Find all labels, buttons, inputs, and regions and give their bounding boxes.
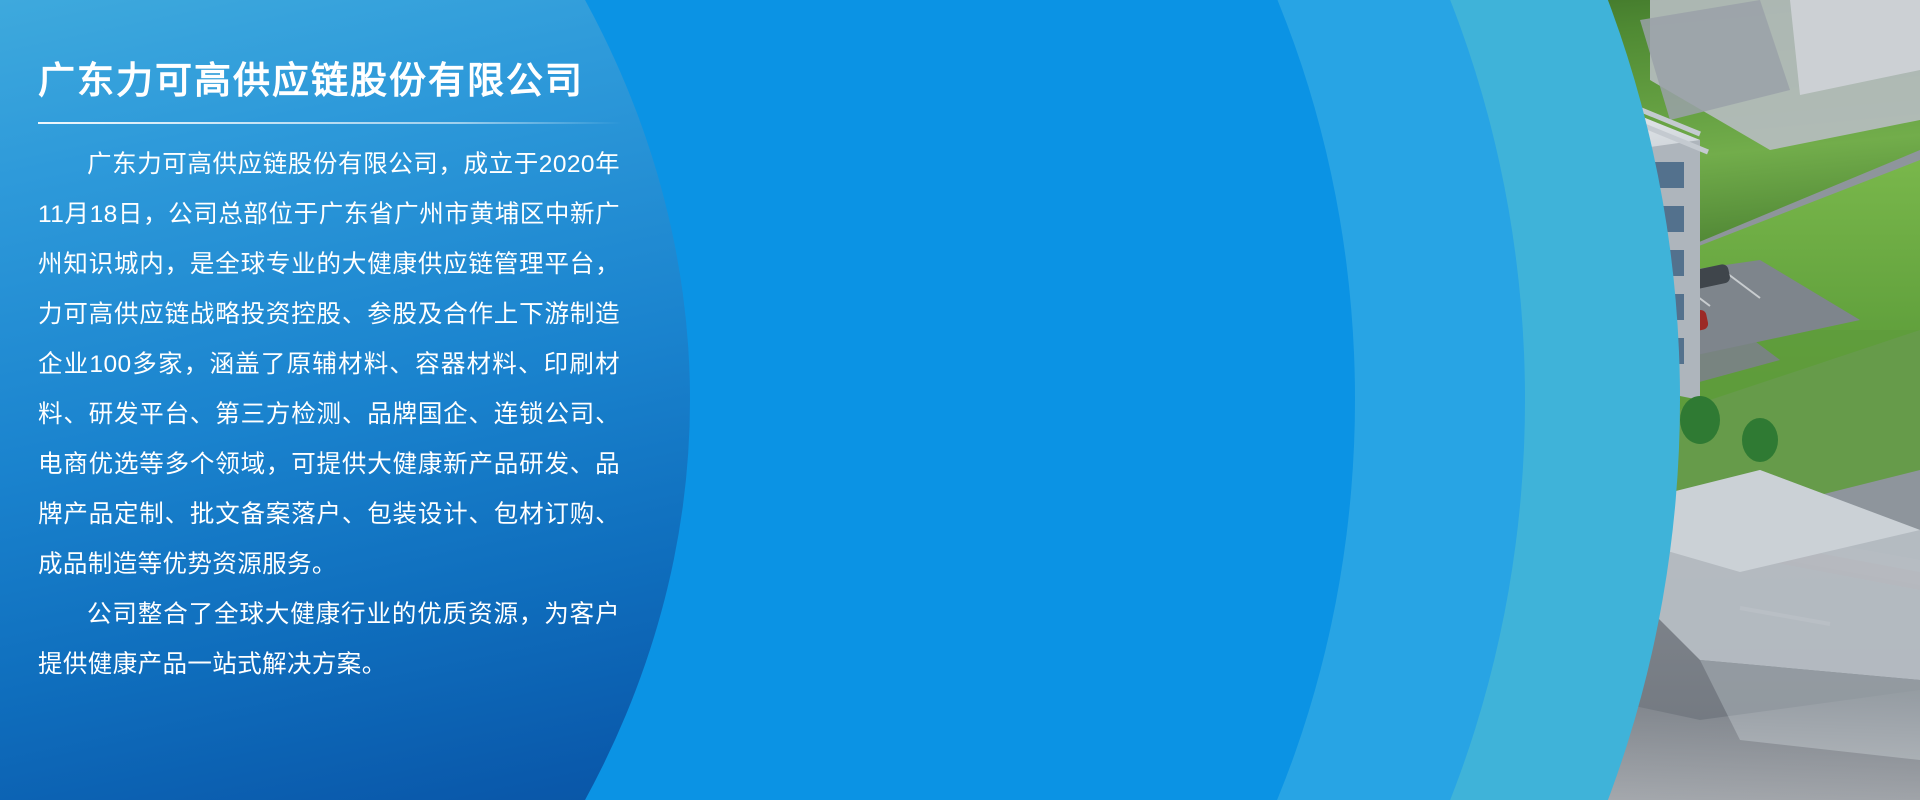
page-title: 广东力可高供应链股份有限公司 xyxy=(38,58,620,104)
description-paragraph-2: 公司整合了全球大健康行业的优质资源，为客户提供健康产品一站式解决方案。 xyxy=(38,590,620,690)
company-profile-content: 广东力可高供应链股份有限公司 广东力可高供应链股份有限公司，成立于2020年11… xyxy=(0,0,620,800)
company-description: 广东力可高供应链股份有限公司，成立于2020年11月18日，公司总部位于广东省广… xyxy=(38,140,620,690)
company-profile-banner: 广东力可高供应链股份有限公司 广东力可高供应链股份有限公司，成立于2020年11… xyxy=(0,0,1920,800)
title-underline xyxy=(38,122,622,124)
description-paragraph-1: 广东力可高供应链股份有限公司，成立于2020年11月18日，公司总部位于广东省广… xyxy=(38,140,620,590)
